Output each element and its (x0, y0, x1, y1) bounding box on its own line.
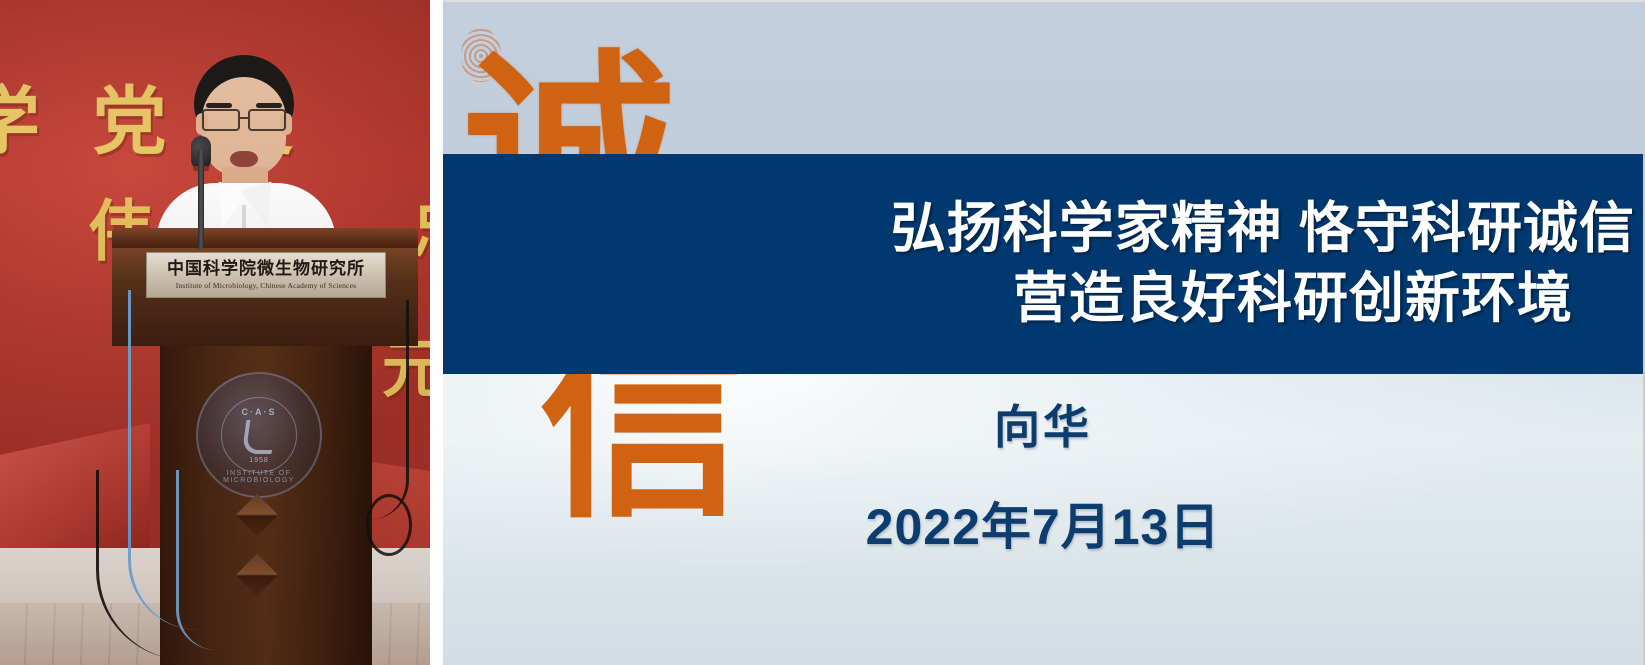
black-cable-secondary (360, 300, 409, 520)
podium-nameplate-en: Institute of Microbiology, Chinese Acade… (176, 281, 356, 290)
cas-emblem-initials: C·A·S (242, 407, 277, 417)
podium-top (112, 228, 418, 250)
slide-screenshot: 学 党 史 伟 忠 范 元 中国科学院微生物研究所 Ins (0, 0, 1645, 665)
slide-title-banner: 弘扬科学家精神 恪守科研诚信 营造良好科研创新环境 (443, 154, 1643, 374)
slide-date: 2022年7月13日 (443, 487, 1643, 559)
podium-nameplate-cn: 中国科学院微生物研究所 (167, 260, 365, 277)
cas-emblem-swan-icon (242, 420, 277, 454)
slide-title-line-2: 营造良好科研创新环境 (1013, 267, 1643, 331)
glasses-icon (200, 109, 288, 129)
panel-divider (430, 0, 443, 665)
speaker-brow-right (256, 103, 282, 108)
cas-emblem-inner: C·A·S 1958 (221, 397, 297, 473)
slide-title-line-1: 弘扬科学家精神 恪守科研诚信 (891, 197, 1643, 261)
cas-emblem-year: 1958 (249, 457, 269, 464)
speaker-mouth (230, 151, 258, 167)
slide-speaker-name: 向华 (443, 402, 1643, 453)
glasses-bridge (238, 117, 250, 119)
slide-speaker-block: 向华 2022年7月13日 (443, 402, 1643, 559)
speaker-brow-left (206, 103, 232, 108)
presentation-slide: 诚 信 弘扬科学家精神 恪守科研诚信 营造良好科研创新环境 向华 2022年7月… (443, 0, 1645, 665)
microphone-stem (198, 150, 204, 250)
speaker-photo-panel: 学 党 史 伟 忠 范 元 中国科学院微生物研究所 Ins (0, 0, 430, 665)
black-cable-loop (366, 494, 412, 556)
